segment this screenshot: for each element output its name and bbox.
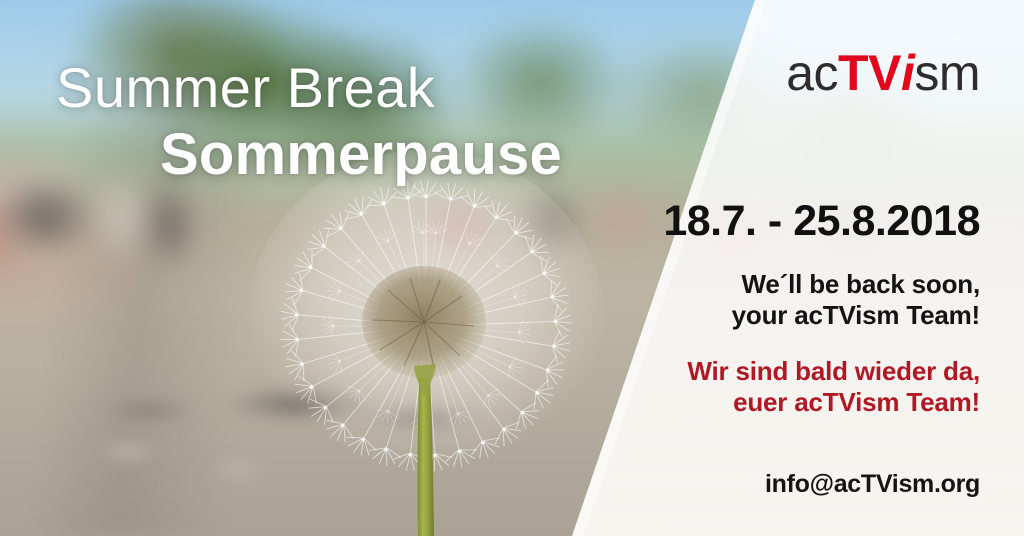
message-english: We´ll be back soon, your acTVism Team! <box>560 269 980 330</box>
message-german-line-2: euer acTVism Team! <box>560 387 980 418</box>
message-english-line-1: We´ll be back soon, <box>560 269 980 300</box>
info-panel-content: acTVism 18.7. - 25.8.2018 We´ll be back … <box>560 0 980 499</box>
actvism-logo[interactable]: acTVism <box>560 48 980 98</box>
message-german-line-1: Wir sind bald wieder da, <box>560 356 980 387</box>
logo-part-ac: ac <box>786 45 838 101</box>
contact-email[interactable]: info@acTVism.org <box>560 470 980 499</box>
summer-break-banner: Summer Break Sommerpause acTVism 18.7. -… <box>0 0 1024 536</box>
headline-german: Sommerpause <box>160 126 560 184</box>
message-german: Wir sind bald wieder da, euer acTVism Te… <box>560 356 980 417</box>
date-range: 18.7. - 25.8.2018 <box>560 200 980 243</box>
logo-part-sm: sm <box>914 45 980 101</box>
headline-english: Summer Break <box>56 60 560 116</box>
headline-block: Summer Break Sommerpause <box>0 60 560 184</box>
logo-part-tv: TV <box>838 45 901 101</box>
message-english-line-2: your acTVism Team! <box>560 300 980 331</box>
logo-part-i: i <box>901 45 914 101</box>
